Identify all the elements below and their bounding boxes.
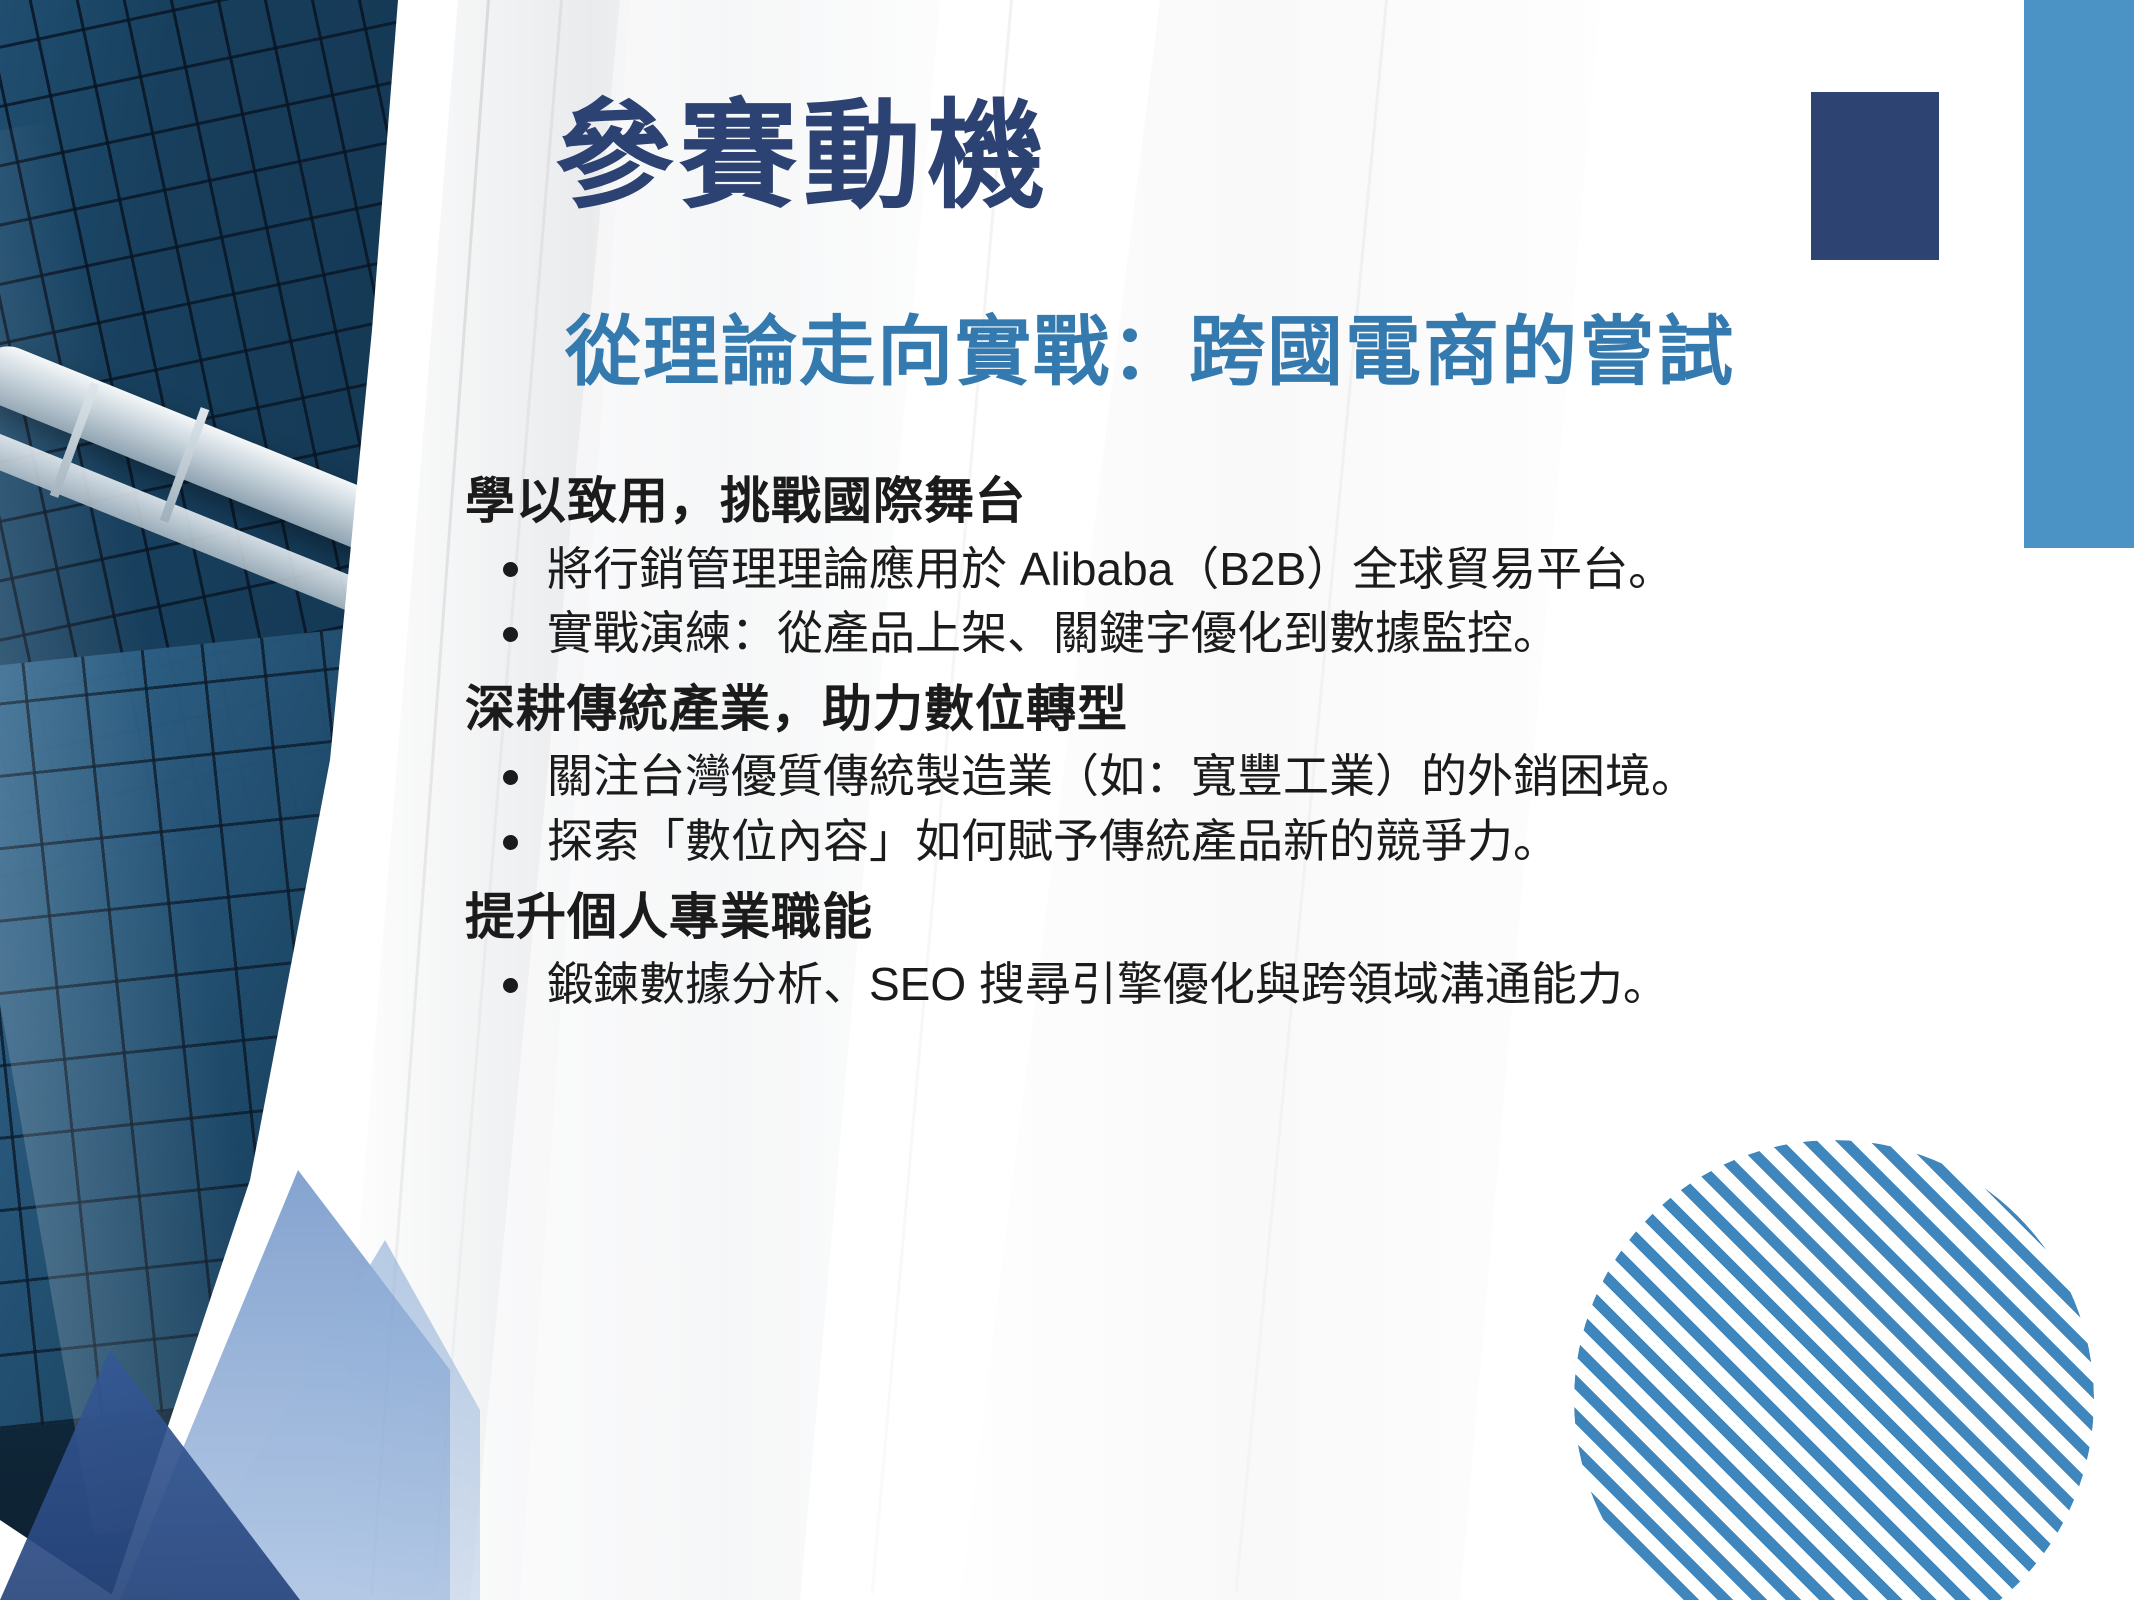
blue-vertical-bar [2024, 0, 2134, 548]
content-body: 學以致用，挑戰國際舞台 將行銷管理理論應用於 Alibaba（B2B）全球貿易平… [465, 470, 1915, 1029]
list-item: 實戰演練：從產品上架、關鍵字優化到數據監控。 [465, 603, 1915, 664]
section-heading: 深耕傳統產業，助力數位轉型 [465, 678, 1915, 741]
bullet-list: 關注台灣優質傳統製造業（如：寬豐工業）的外銷困境。 探索「數位內容」如何賦予傳統… [465, 746, 1915, 871]
page-subtitle: 從理論走向實戰：跨國電商的嘗試 [565, 290, 1735, 400]
section-heading: 提升個人專業職能 [465, 886, 1915, 949]
bullet-dot-icon [503, 978, 518, 993]
bullet-dot-icon [503, 835, 518, 850]
list-item-label: 探索「數位內容」如何賦予傳統產品新的競爭力。 [547, 815, 1559, 867]
slide-canvas: 參賽動機 從理論走向實戰：跨國電商的嘗試 學以致用，挑戰國際舞台 將行銷管理理論… [0, 0, 2134, 1600]
bullet-dot-icon [503, 562, 518, 577]
list-item-label: 關注台灣優質傳統製造業（如：寬豐工業）的外銷困境。 [547, 750, 1697, 802]
bullet-dot-icon [503, 770, 518, 785]
list-item: 將行銷管理理論應用於 Alibaba（B2B）全球貿易平台。 [465, 539, 1915, 600]
section-heading: 學以致用，挑戰國際舞台 [465, 470, 1915, 533]
list-item: 鍛鍊數據分析、SEO 搜尋引擎優化與跨領域溝通能力。 [465, 954, 1915, 1015]
list-item-label: 鍛鍊數據分析、SEO 搜尋引擎優化與跨領域溝通能力。 [547, 958, 1669, 1010]
bullet-list: 將行銷管理理論應用於 Alibaba（B2B）全球貿易平台。 實戰演練：從產品上… [465, 539, 1915, 664]
content-section-1: 學以致用，挑戰國際舞台 將行銷管理理論應用於 Alibaba（B2B）全球貿易平… [465, 470, 1915, 664]
list-item-label: 將行銷管理理論應用於 Alibaba（B2B）全球貿易平台。 [547, 543, 1674, 595]
slide-content: 參賽動機 從理論走向實戰：跨國電商的嘗試 學以致用，挑戰國際舞台 將行銷管理理論… [455, 0, 2015, 1600]
page-title: 參賽動機 [555, 96, 1051, 220]
bullet-dot-icon [503, 627, 518, 642]
list-item: 關注台灣優質傳統製造業（如：寬豐工業）的外銷困境。 [465, 746, 1915, 807]
content-section-3: 提升個人專業職能 鍛鍊數據分析、SEO 搜尋引擎優化與跨領域溝通能力。 [465, 886, 1915, 1015]
bullet-list: 鍛鍊數據分析、SEO 搜尋引擎優化與跨領域溝通能力。 [465, 954, 1915, 1015]
list-item-label: 實戰演練：從產品上架、關鍵字優化到數據監控。 [547, 607, 1559, 659]
list-item: 探索「數位內容」如何賦予傳統產品新的競爭力。 [465, 811, 1915, 872]
content-section-2: 深耕傳統產業，助力數位轉型 關注台灣優質傳統製造業（如：寬豐工業）的外銷困境。 … [465, 678, 1915, 872]
